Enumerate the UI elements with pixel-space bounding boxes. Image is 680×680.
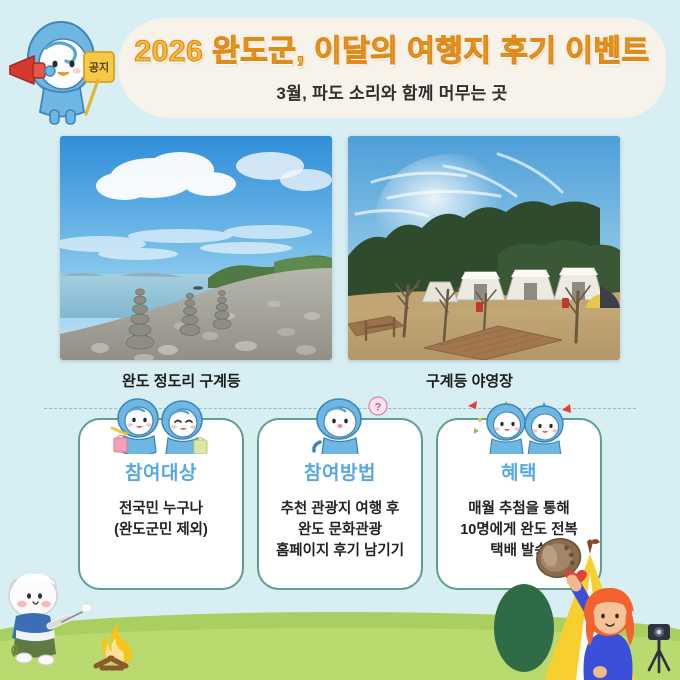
two-mascots-shopping-icon [86, 394, 236, 454]
page-title: 2026 완도군, 이달의 여행지 후기 이벤트 [118, 26, 666, 70]
mascot-notice-icon: 공지 [6, 14, 118, 132]
caption-photo-2: 구계등 야영장 [426, 370, 513, 391]
card-heading-how-to-join: 참여방법 [259, 458, 421, 485]
section-divider [44, 408, 636, 409]
photo-jeongdori-gugyedeung [60, 136, 332, 360]
card-body-participants: 전국민 누구나 (완도군민 제외) [80, 499, 242, 541]
camper-with-abalone-icon [480, 520, 680, 680]
bear-roasting-marshmallow-icon [4, 556, 154, 676]
page-subtitle: 3월, 파도 소리와 함께 머무는 곳 [118, 79, 666, 104]
card-heading-benefit: 혜택 [438, 458, 600, 485]
card-line: 매월 추첨을 통해 [444, 499, 594, 520]
card-line: 홈페이지 후기 남기기 [265, 541, 415, 562]
card-line: 전국민 누구나 [86, 499, 236, 520]
card-body-how-to-join: 추천 관광지 여행 후 완도 문화관광 홈페이지 후기 남기기 [259, 499, 421, 562]
svg-text:공지: 공지 [89, 60, 109, 74]
card-heading-participants: 참여대상 [80, 458, 242, 485]
two-mascots-party-icon [444, 394, 594, 454]
notice-sign-icon: 공지 [84, 52, 114, 114]
photo-captions: 완도 정도리 구계등 구계등 야영장 [60, 370, 620, 392]
info-card-how-to-join: ? 참여방법 추천 관광지 여행 후 완도 문화관광 홈페이지 후기 남기기 [257, 418, 423, 590]
event-poster: 2026 완도군, 이달의 여행지 후기 이벤트 3월, 파도 소리와 함께 머… [0, 0, 680, 680]
photo-gallery [60, 136, 620, 360]
mascot-question-mark-icon: ? [265, 394, 415, 454]
caption-photo-1: 완도 정도리 구계등 [122, 370, 241, 391]
photo-gugyedeung-campground [348, 136, 620, 360]
card-line: 완도 문화관광 [265, 520, 415, 541]
title-block: 2026 완도군, 이달의 여행지 후기 이벤트 3월, 파도 소리와 함께 머… [118, 26, 666, 104]
card-line: (완도군민 제외) [86, 520, 236, 541]
card-line: 추천 관광지 여행 후 [265, 499, 415, 520]
